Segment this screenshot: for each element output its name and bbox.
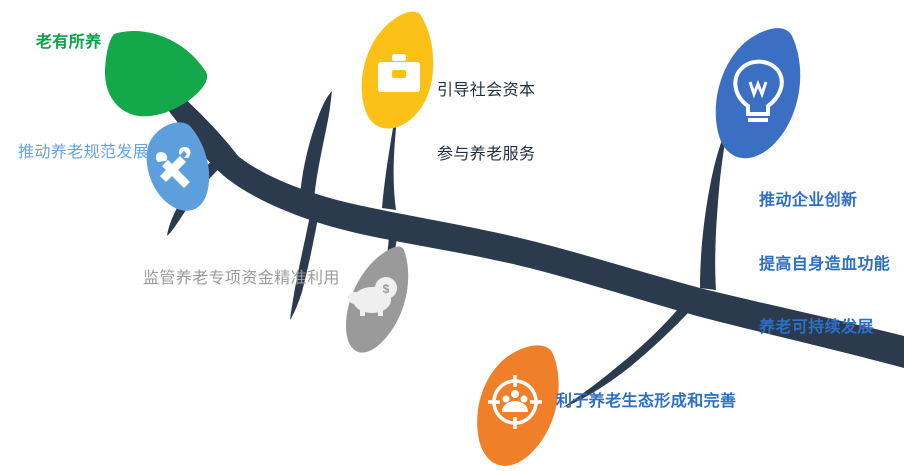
leaf-orange-ecology[interactable] xyxy=(477,345,558,465)
label-care: 老有所养 xyxy=(36,32,102,53)
label-capital-line2: 参与养老服务 xyxy=(437,144,535,165)
label-capital: 引导社会资本 参与养老服务 xyxy=(437,38,535,207)
label-capital-line1: 引导社会资本 xyxy=(437,80,535,101)
label-ecology: 利于养老生态形成和完善 xyxy=(556,391,736,412)
leaf-gray-supervise[interactable]: $ xyxy=(346,247,408,353)
leaf-royal-shape xyxy=(716,28,800,158)
label-innovate: 推动企业创新 提高自身造血功能 养老可持续发展 xyxy=(759,148,890,380)
label-supervise: 监管养老专项资金精准利用 xyxy=(143,268,340,289)
label-innovate-line2: 提高自身造血功能 xyxy=(759,254,890,275)
branch-to-royal-leaf xyxy=(700,126,728,290)
branch-thorn-lower-left xyxy=(290,204,320,320)
label-innovate-line1: 推动企业创新 xyxy=(759,190,890,211)
leaf-yellow-capital[interactable] xyxy=(362,12,434,129)
label-innovate-line3: 养老可持续发展 xyxy=(759,317,890,338)
leaf-green-shape xyxy=(105,31,207,116)
branch-thorn-upper-left xyxy=(300,91,332,200)
svg-text:$: $ xyxy=(383,282,390,296)
label-standard: 推动养老规范发展 xyxy=(18,142,149,163)
leaf-green[interactable] xyxy=(105,31,207,116)
leaf-royal-innovate[interactable] xyxy=(716,28,800,158)
infographic-canvas: $ xyxy=(0,0,904,471)
